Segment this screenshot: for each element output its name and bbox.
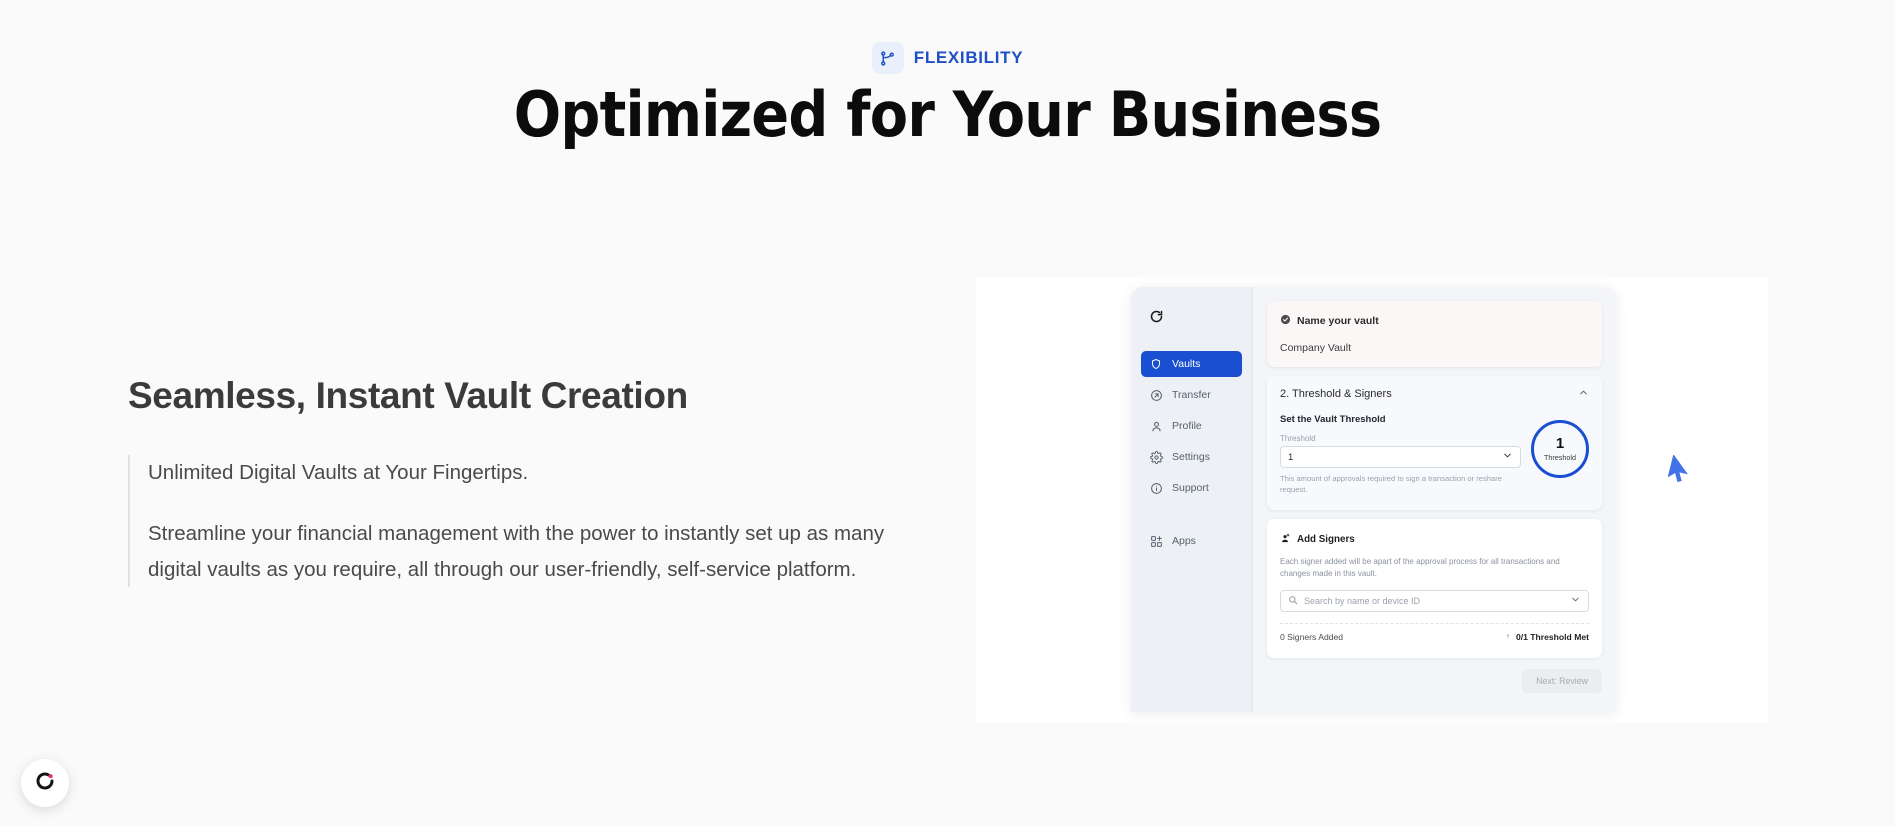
page-root: FLEXIBILITY Optimized for Your Business …: [0, 0, 1895, 826]
threshold-met-label: 0/1 Threshold Met: [1516, 632, 1589, 642]
sidebar-item-label: Vaults: [1172, 358, 1200, 370]
sidebar-item-label: Profile: [1172, 420, 1202, 432]
threshold-met-status: 0/1 Threshold Met: [1504, 632, 1589, 642]
sidebar-item-transfer[interactable]: Transfer: [1141, 382, 1242, 408]
feature-lead: Unlimited Digital Vaults at Your Fingert…: [148, 455, 928, 490]
info-icon: [1149, 481, 1163, 495]
section-eyebrow: FLEXIBILITY: [0, 42, 1895, 74]
eyebrow-label: FLEXIBILITY: [914, 48, 1023, 68]
info-small-icon: [1504, 632, 1512, 642]
threshold-ring-indicator: 1 Threshold: [1531, 420, 1589, 478]
app-mockup: Vaults Transfer Profile Settings: [1131, 287, 1616, 712]
page-title: Optimized for Your Business: [0, 78, 1895, 151]
signers-added-count: 0 Signers Added: [1280, 632, 1343, 642]
threshold-section-title: 2. Threshold & Signers: [1280, 388, 1392, 400]
sidebar-item-label: Settings: [1172, 451, 1210, 463]
sidebar-item-support[interactable]: Support: [1141, 475, 1242, 501]
sidebar-item-settings[interactable]: Settings: [1141, 444, 1242, 470]
shield-icon: [1149, 357, 1163, 371]
add-signers-description: Each signer added will be apart of the a…: [1280, 556, 1589, 581]
chat-loader-icon: [33, 769, 57, 798]
threshold-field-label: Threshold: [1280, 434, 1521, 443]
feature-body: Unlimited Digital Vaults at Your Fingert…: [128, 455, 928, 587]
arrow-up-right-icon: [1149, 388, 1163, 402]
add-person-icon: [1280, 531, 1291, 549]
threshold-subtitle: Set the Vault Threshold: [1280, 414, 1521, 425]
chevron-down-icon[interactable]: [1570, 594, 1581, 607]
signer-search-input[interactable]: Search by name or device ID: [1280, 590, 1589, 612]
threshold-help-text: This amount of approvals required to sig…: [1280, 473, 1521, 496]
mouse-pointer-icon: [1668, 455, 1694, 490]
name-vault-title: Name your vault: [1297, 315, 1379, 327]
sidebar-item-label: Support: [1172, 482, 1209, 494]
sidebar-item-profile[interactable]: Profile: [1141, 413, 1242, 439]
sidebar-item-label: Apps: [1172, 535, 1196, 547]
feature-copy: Seamless, Instant Vault Creation Unlimit…: [128, 375, 928, 587]
check-circle-icon: [1280, 312, 1291, 330]
add-signers-title: Add Signers: [1297, 534, 1355, 545]
feature-heading: Seamless, Instant Vault Creation: [128, 375, 928, 417]
threshold-section-card: 2. Threshold & Signers Set the Vault Thr…: [1267, 376, 1602, 510]
app-logo-icon: [1141, 309, 1242, 329]
signer-search-placeholder: Search by name or device ID: [1304, 596, 1564, 606]
floating-chat-button[interactable]: [21, 759, 69, 807]
threshold-select[interactable]: 1: [1280, 446, 1521, 468]
threshold-select-value: 1: [1288, 452, 1293, 463]
sidebar-item-apps[interactable]: Apps: [1141, 528, 1242, 554]
feature-paragraph: Streamline your financial management wit…: [148, 516, 928, 587]
chevron-down-icon: [1502, 450, 1513, 464]
threshold-ring-value: 1: [1556, 436, 1564, 451]
gear-icon: [1149, 450, 1163, 464]
threshold-ring-caption: Threshold: [1544, 453, 1576, 462]
threshold-section-header[interactable]: 2. Threshold & Signers: [1267, 376, 1602, 410]
app-sidebar: Vaults Transfer Profile Settings: [1131, 287, 1253, 712]
sidebar-item-vaults[interactable]: Vaults: [1141, 351, 1242, 377]
next-review-button[interactable]: Next: Review: [1522, 669, 1602, 693]
search-icon: [1288, 595, 1298, 607]
apps-add-icon: [1149, 534, 1163, 548]
sidebar-spacer: [1141, 506, 1242, 528]
chevron-up-icon[interactable]: [1578, 387, 1589, 401]
user-icon: [1149, 419, 1163, 433]
git-branch-icon: [872, 42, 904, 74]
name-vault-card[interactable]: Name your vault Company Vault: [1267, 301, 1602, 367]
app-main-panel: Name your vault Company Vault 2. Thresho…: [1253, 287, 1616, 712]
name-vault-value: Company Vault: [1280, 342, 1589, 354]
add-signers-card: Add Signers Each signer added will be ap…: [1267, 519, 1602, 658]
sidebar-item-label: Transfer: [1172, 389, 1211, 401]
signers-divider: [1280, 623, 1589, 624]
